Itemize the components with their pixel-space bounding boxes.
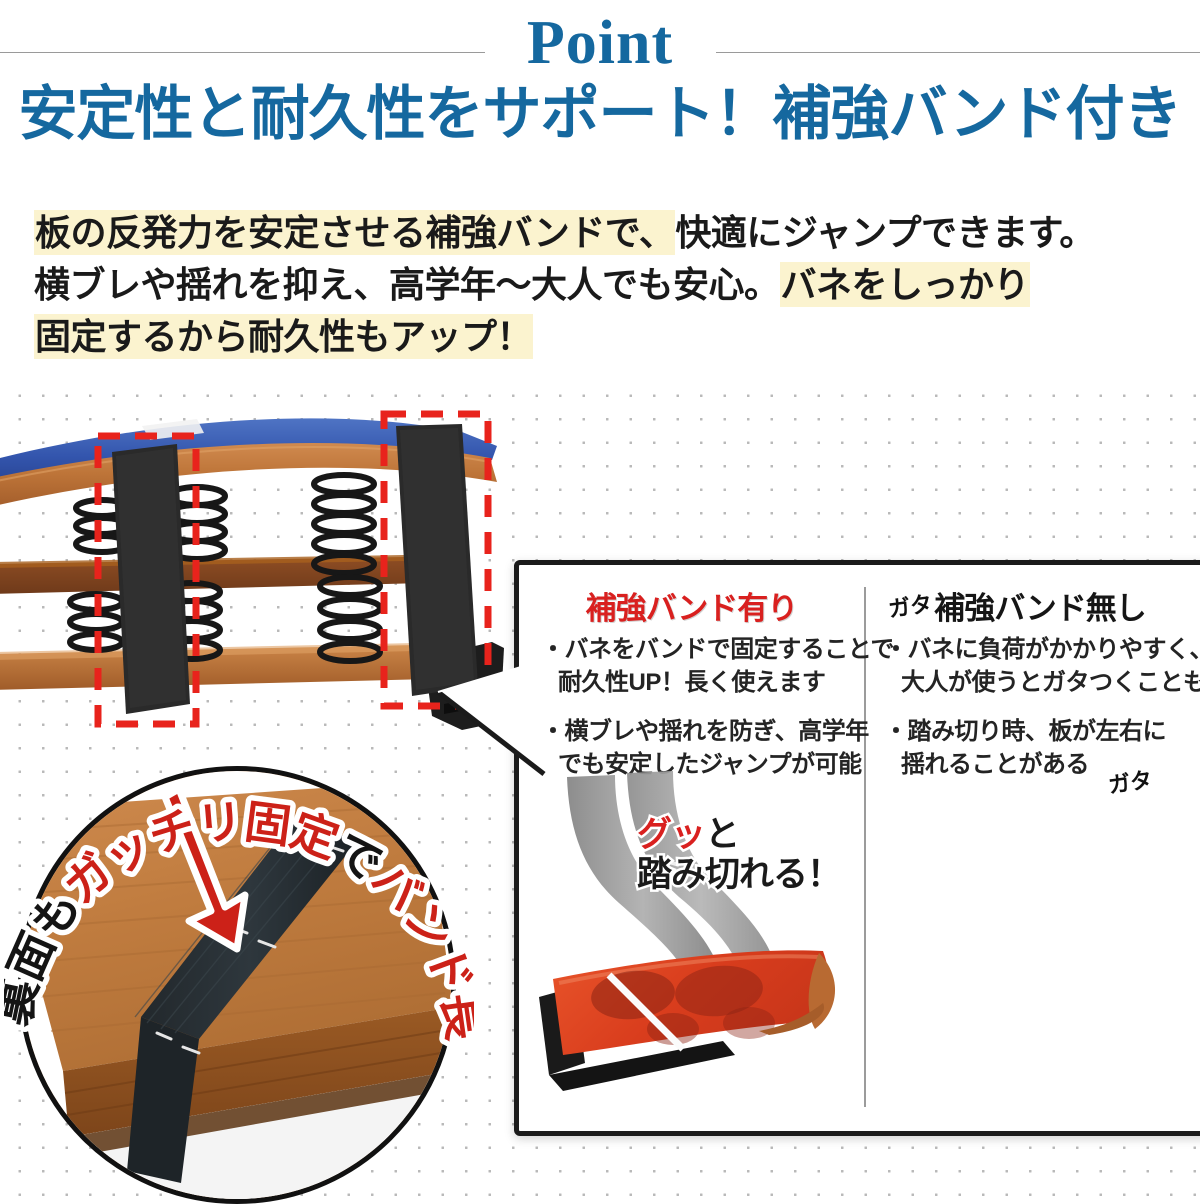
- point-label: Point: [0, 6, 1200, 80]
- shake-label-1: ガタ: [886, 586, 934, 624]
- lede-line-3-highlight: 固定するから耐久性もアップ！: [34, 314, 533, 359]
- lede-line-1-highlight: 板の反発力を安定させる補強バンドで、: [34, 210, 675, 255]
- caption-black-inline: と: [705, 815, 739, 854]
- lede-line-2-highlight: バネをしっかり: [780, 262, 1031, 307]
- bullet-item: ・バネに負荷がかかりやすく、 大人が使うとガタつくことも…: [884, 633, 1200, 699]
- lede-line-1: 板の反発力を安定させる補強バンドで、快適にジャンプできます。: [34, 207, 1184, 259]
- lede-line-2: 横ブレや揺れを抑え、高学年〜大人でも安心。バネをしっかり: [34, 259, 1184, 311]
- lede-paragraph: 板の反発力を安定させる補強バンドで、快適にジャンプできます。 横ブレや揺れを抑え…: [34, 207, 1184, 363]
- caption-red: グッ: [637, 815, 705, 854]
- column-title-with-band: 補強バンド有り: [519, 583, 864, 628]
- column-without-band: 補強バンド無し ・バネに負荷がかかりやすく、 大人が使うとガタつくことも… ・踏…: [866, 565, 1200, 1131]
- header: Point 安定性と耐久性をサポート！補強バンド付き: [0, 0, 1200, 182]
- panel-pointer-arrow: [436, 660, 546, 776]
- column-with-band: 補強バンド有り ・バネをバンドで固定することで 耐久性UP！長く使えます ・横ブ…: [519, 565, 864, 1131]
- caption-line-1: グッと: [637, 815, 841, 855]
- bullet-line: ・横ブレや揺れを防ぎ、高学年: [541, 715, 853, 748]
- bullet-line: ・バネに負荷がかかりやすく、: [884, 633, 1200, 666]
- bullet-line: 大人が使うとガタつくことも…: [884, 666, 1200, 699]
- underside-closeup-photo: 裏面もガッチリ固定でバンド長持ち 裏面もガッチリ固定でバンド長持ち: [18, 766, 456, 1204]
- bullet-line: ・踏み切り時、板が左右に: [884, 715, 1200, 748]
- point-eyebrow-row: Point: [0, 8, 1200, 74]
- page-title: 安定性と耐久性をサポート！補強バンド付き: [0, 78, 1200, 150]
- comparison-panel: 補強バンド有り ・バネをバンドで固定することで 耐久性UP！長く使えます ・横ブ…: [514, 560, 1200, 1136]
- lede-line-2-plain: 横ブレや揺れを抑え、高学年〜大人でも安心。: [34, 264, 780, 305]
- bullet-item: ・踏み切り時、板が左右に 揺れることがある: [884, 715, 1200, 781]
- lede-line-3: 固定するから耐久性もアップ！: [34, 311, 1184, 363]
- lede-line-1-rest: 快適にジャンプできます。: [675, 212, 1095, 253]
- bullet-line: 耐久性UP！長く使えます: [541, 666, 853, 699]
- bullets-without-band: ・バネに負荷がかかりやすく、 大人が使うとガタつくことも… ・踏み切り時、板が左…: [884, 633, 1200, 797]
- underside-illustration: [23, 771, 451, 1199]
- bullet-line: 揺れることがある: [884, 748, 1200, 781]
- caption-line-2: 踏み切れる！: [637, 855, 841, 895]
- caption-firm-takeoff: グッと 踏み切れる！: [637, 815, 841, 895]
- circle-photo-frame: [18, 766, 456, 1204]
- shake-label-2: ガタ: [1106, 762, 1154, 800]
- bullet-item: ・バネをバンドで固定することで 耐久性UP！長く使えます: [541, 633, 853, 699]
- bullet-line: ・バネをバンドで固定することで: [541, 633, 853, 666]
